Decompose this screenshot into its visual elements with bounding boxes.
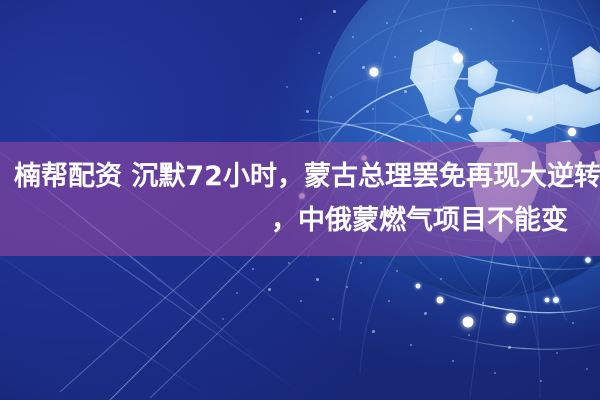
- background-vignette: [0, 0, 600, 400]
- promo-banner: 楠帮配资 沉默72小时，蒙古总理罢免再现大逆转 ，中俄蒙燃气项目不能变: [0, 0, 600, 400]
